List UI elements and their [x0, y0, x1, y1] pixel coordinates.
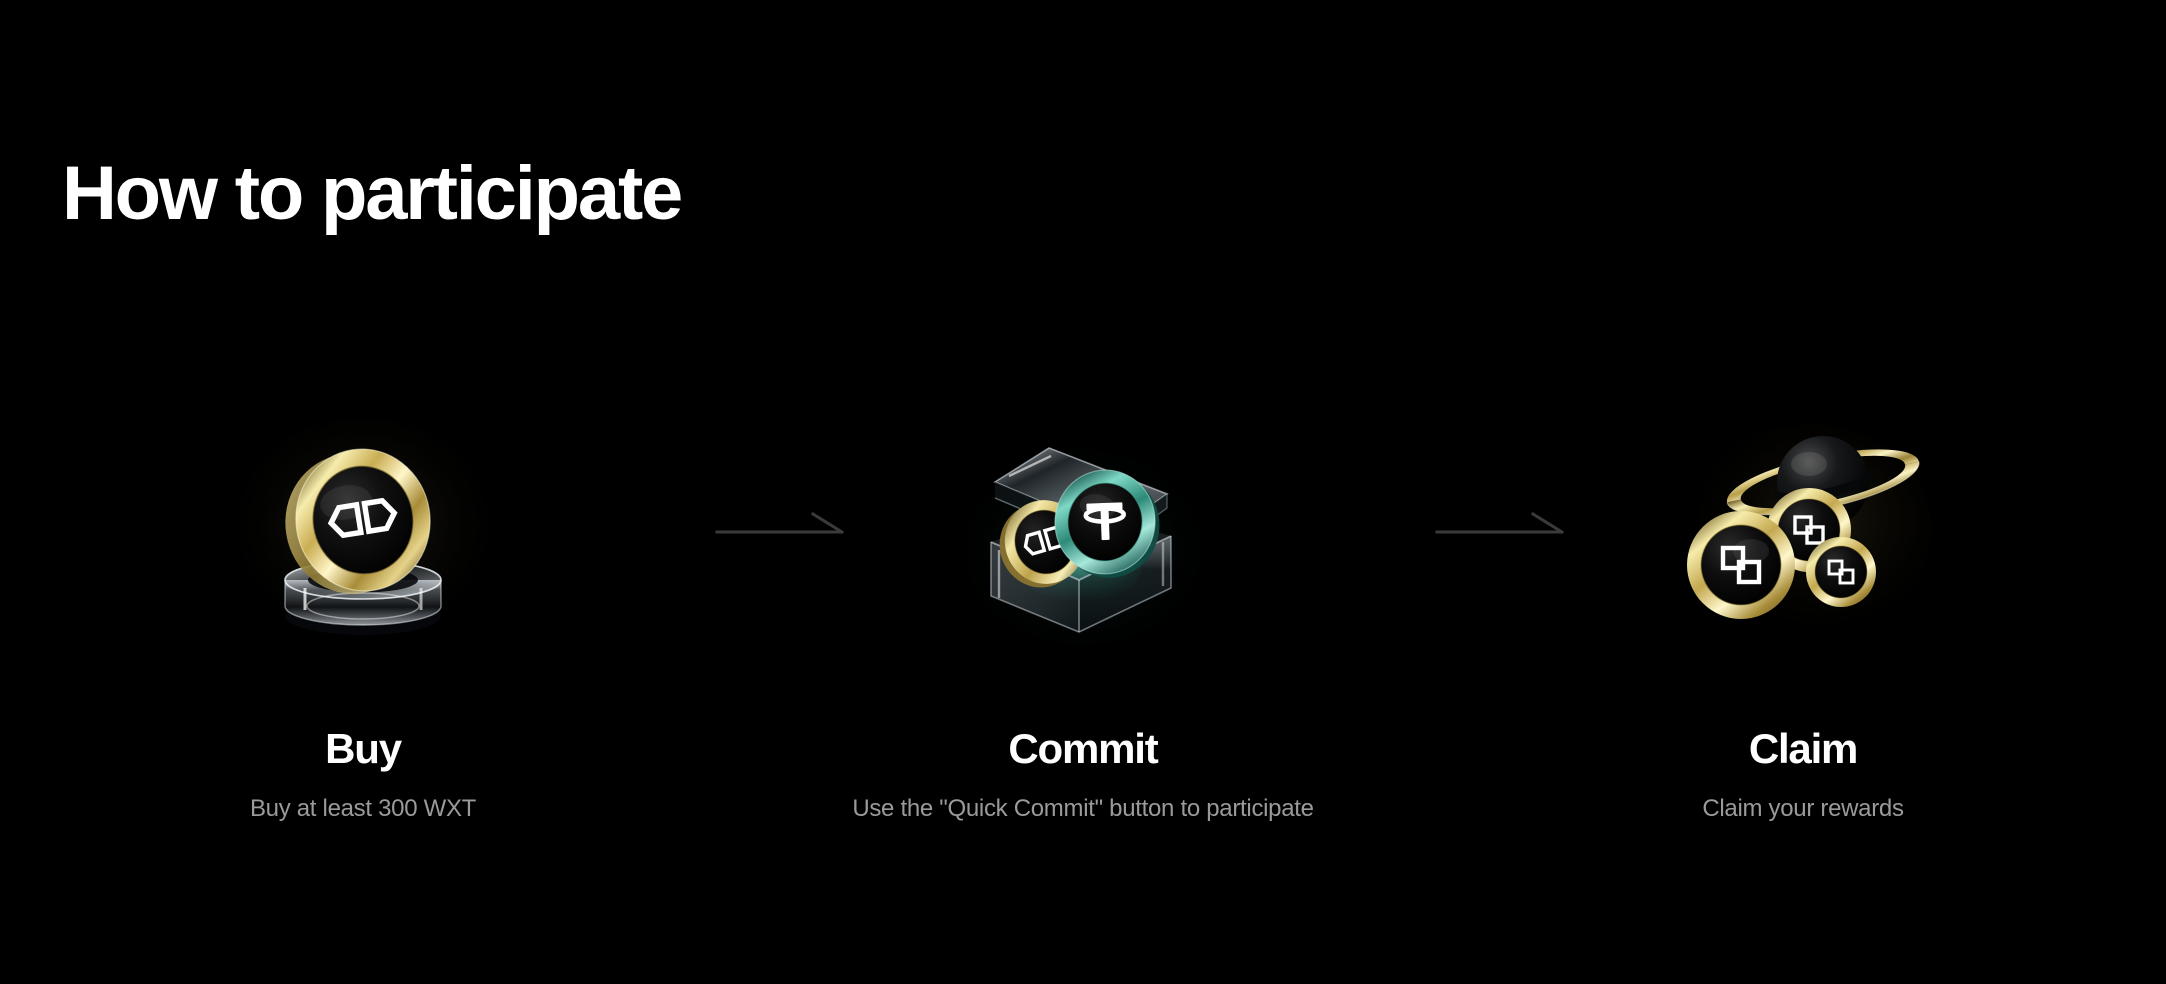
- step-title-commit: Commit: [1008, 728, 1157, 770]
- how-to-participate-section: How to participate: [0, 0, 2166, 984]
- step-description-commit: Use the "Quick Commit" button to partici…: [852, 797, 1313, 821]
- step-description-buy: Buy at least 300 WXT: [250, 797, 476, 821]
- page-title: How to participate: [62, 156, 681, 232]
- step-title-buy: Buy: [325, 728, 401, 770]
- steps-list: Buy Buy at least 300 WXT: [0, 420, 2166, 821]
- gold-coins-with-ringed-planet-icon: [1673, 420, 1933, 650]
- wxt-coin-tiny: [1806, 537, 1876, 607]
- step-title-claim: Claim: [1749, 728, 1857, 770]
- wxt-coin-on-glass-pedestal-icon: [233, 420, 493, 650]
- wxt-coin-large: [1687, 511, 1795, 619]
- open-glass-chest-with-coins-icon: [953, 420, 1213, 650]
- step-description-claim: Claim your rewards: [1702, 797, 1903, 821]
- step-item-claim: Claim Claim your rewards: [1443, 420, 2163, 821]
- step-item-buy: Buy Buy at least 300 WXT: [3, 420, 723, 821]
- step-item-commit: Commit Use the "Quick Commit" button to …: [723, 420, 1443, 821]
